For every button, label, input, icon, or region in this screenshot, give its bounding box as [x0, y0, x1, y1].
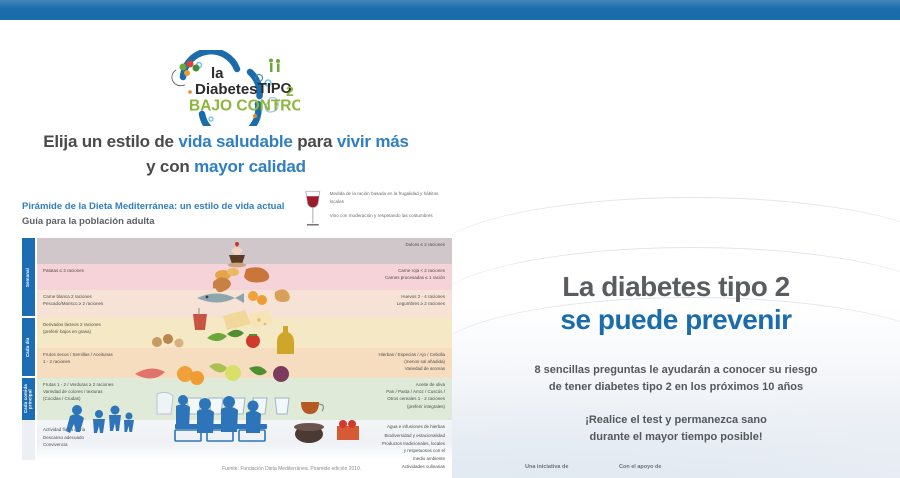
- pyramid-frequency-labels: SemanalCada díaCada comida principal: [22, 238, 35, 420]
- right-headline-la: La: [562, 271, 601, 302]
- svg-text:BAJO CONTROL: BAJO CONTROL: [189, 98, 300, 115]
- pyramid-band-5: Frutas 1 - 2 / Verduras ≥ 2 racionesVari…: [37, 378, 452, 420]
- lead-text-1: Elija un estilo de: [43, 132, 178, 151]
- right-cta-line1: ¡Realice el test y permanezca sano: [585, 414, 767, 426]
- wine-glass-icon: [302, 188, 324, 232]
- pyramid-base-sustainability-text: Biodiversidad y estacionalidadProductos …: [382, 432, 445, 470]
- lead-text-2: para: [293, 132, 337, 151]
- svg-text:la: la: [211, 65, 224, 82]
- wine-note-text: Medida de la ración basada en la frugali…: [330, 188, 452, 232]
- left-panel: la Diabetes TIPO 2 BAJO CONTROL Elija un…: [0, 20, 452, 478]
- pyramid-band-3-left-text: Derivados lácteos 2 raciones(preferir ba…: [43, 321, 101, 335]
- pyramid-base-water-text: Agua e infusiones de hierbas: [387, 423, 445, 431]
- right-subtext: 8 sencillas preguntas le ayudarán a cono…: [476, 362, 876, 395]
- pyramid-band-4: Frutos secos / Semillas / Aceitunas1 - 2…: [37, 348, 452, 378]
- top-bar-sheen: [0, 0, 900, 9]
- poster-page: la Diabetes TIPO 2 BAJO CONTROL Elija un…: [0, 0, 900, 478]
- top-blue-bar: [0, 0, 900, 20]
- wine-note-1: Medida de la ración basada en la frugali…: [330, 190, 452, 206]
- pyramid-band-1: Patatas ≤ 3 racionesCarne roja < 2 racio…: [37, 264, 452, 290]
- pyramid-band-5-left-text: Frutas 1 - 2 / Verduras ≥ 2 racionesVari…: [43, 381, 114, 403]
- pyramid-band-5-right-text: Aceite de olivaPan / Pasta / Arroz / Cus…: [386, 381, 445, 410]
- svg-text:2: 2: [286, 83, 294, 99]
- right-cta-line2: durante el mayor tiempo posible!: [590, 431, 763, 443]
- right-subtext-line2: de tener diabetes tipo 2 en los próximos…: [549, 381, 803, 393]
- pyramid-frequency-label-1: Cada día: [22, 318, 35, 376]
- wine-note-2: Vino con moderación y respetando las cos…: [330, 212, 452, 220]
- pyramid-band-0: Dulces ≤ 2 raciones: [37, 238, 452, 264]
- lead-highlight-2: vivir más: [337, 132, 409, 151]
- lead-highlight-3: mayor calidad: [194, 157, 306, 176]
- pyramid-band-2-right-text: Huevos 2 - 4 racionesLegumbres ≥ 2 racio…: [397, 293, 445, 307]
- footer-initiative-label: Una iniciativa de: [525, 464, 568, 470]
- pyramid-band-4-left-text: Frutos secos / Semillas / Aceitunas1 - 2…: [43, 351, 113, 365]
- pyramid-base-side: [22, 420, 35, 460]
- pyramid-base-left-text: Actividad física diariaDescanso adecuado…: [43, 426, 85, 449]
- right-headline: La diabetes tipo 2 se puede prevenir: [452, 270, 900, 336]
- lead-highlight-1: vida saludable: [178, 132, 292, 151]
- campaign-logo-small: la Diabetes TIPO 2 BAJO CONTROL: [152, 50, 300, 126]
- mediterranean-diet-pyramid: SemanalCada díaCada comida principal Dul…: [22, 238, 452, 460]
- pyramid-bands: Dulces ≤ 2 racionesPatatas ≤ 3 racionesC…: [37, 238, 452, 420]
- pyramid-source: Fuente: Fundación Dieta Mediterránea. Pi…: [222, 466, 361, 472]
- pyramid-band-0-right-text: Dulces ≤ 2 raciones: [406, 241, 446, 248]
- pyramid-band-4-right-text: Hierbas / Especias / Ajo / Cebolla(menos…: [378, 351, 445, 373]
- pyramid-band-2: Carne blanca 2 racionesPescado/Marisco ≥…: [37, 290, 452, 318]
- pyramid-subtitle: Guía para la población adulta: [22, 215, 322, 230]
- lead-headline: Elija un estilo de vida saludable para v…: [18, 130, 434, 179]
- pyramid-frequency-label-2: Cada comida principal: [22, 378, 35, 420]
- pyramid-frequency-label-0: Semanal: [22, 238, 35, 316]
- svg-text:Diabetes: Diabetes: [195, 81, 258, 98]
- pyramid-band-1-right-text: Carne roja < 2 racionesCarnes procesadas…: [385, 267, 445, 281]
- pyramid-band-1-left-text: Patatas ≤ 3 raciones: [43, 267, 84, 274]
- right-cta: ¡Realice el test y permanezca sano duran…: [476, 412, 876, 445]
- right-headline-line1: diabetes tipo 2: [601, 271, 790, 302]
- right-subtext-line1: 8 sencillas preguntas le ayudarán a cono…: [534, 364, 817, 376]
- right-panel: la Diabetes TIPO 2 BAJO CONTROL La diabe…: [452, 20, 900, 478]
- right-headline-line2: se puede prevenir: [560, 304, 791, 335]
- pyramid-band-2-left-text: Carne blanca 2 racionesPescado/Marisco ≥…: [43, 293, 103, 307]
- wine-note: Medida de la ración basada en la frugali…: [302, 188, 452, 232]
- pyramid-base-band: Actividad física diariaDescanso adecuado…: [37, 420, 452, 460]
- pyramid-title-block: Pirámide de la Dieta Mediterránea: un es…: [22, 200, 322, 229]
- pyramid-band-3: Derivados lácteos 2 raciones(preferir ba…: [37, 318, 452, 348]
- footer-support-label: Con el apoyo de: [619, 464, 661, 470]
- pyramid-title: Pirámide de la Dieta Mediterránea: un es…: [22, 200, 322, 215]
- lead-text-3: y con: [146, 157, 194, 176]
